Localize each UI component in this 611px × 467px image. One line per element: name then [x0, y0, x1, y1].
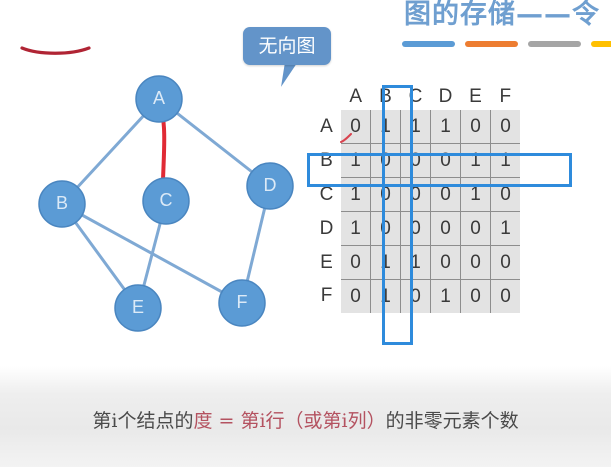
- matrix-cell-f-f: 0: [491, 280, 521, 314]
- matrix-cell-f-e: 0: [461, 280, 491, 314]
- matrix-cell-c-a: 1: [341, 178, 371, 212]
- matrix-cell-d-d: 0: [431, 212, 461, 246]
- matrix-cell-f-d: 1: [431, 280, 461, 314]
- matrix-cell-b-d: 0: [431, 144, 461, 178]
- matrix-cell-a-f: 0: [491, 110, 521, 144]
- slide-title: 图的存储——令: [404, 0, 611, 32]
- caption-part-1: 第i个结点的: [92, 410, 193, 432]
- matrix-cell-e-f: 0: [491, 246, 521, 280]
- matrix-cell-e-d: 0: [431, 246, 461, 280]
- matrix-cell-e-a: 0: [341, 246, 371, 280]
- graph-node-b[interactable]: [39, 181, 85, 227]
- matrix-cell-a-c: 1: [401, 110, 431, 144]
- matrix-col-header-c: C: [401, 84, 431, 110]
- matrix-row-header-b: B: [312, 144, 341, 178]
- slide-screenshot: 图的存储——令 A B: [0, 0, 611, 467]
- graph-node-e[interactable]: [115, 285, 161, 331]
- matrix-cell-b-f: 1: [491, 144, 521, 178]
- matrix-cell-d-b: 0: [371, 212, 401, 246]
- table-row: D100001: [312, 212, 520, 246]
- caption-part-2-highlight: 度 = 第i行（或第i列）: [193, 410, 385, 432]
- matrix-cell-c-e: 1: [461, 178, 491, 212]
- matrix-cell-b-a: 1: [341, 144, 371, 178]
- graph-node-a[interactable]: [136, 76, 182, 122]
- matrix-cell-d-e: 0: [461, 212, 491, 246]
- matrix-cell-f-b: 1: [371, 280, 401, 314]
- bar-blue: [402, 41, 455, 47]
- matrix-cell-f-c: 0: [401, 280, 431, 314]
- matrix-cell-b-b: 0: [371, 144, 401, 178]
- matrix-col-header-b: B: [371, 84, 401, 110]
- graph-node-c[interactable]: [143, 178, 189, 224]
- matrix-cell-b-c: 0: [401, 144, 431, 178]
- adjacency-matrix-table: ABCDEFA011100B100011C100010D100001E01100…: [312, 84, 520, 313]
- matrix-col-header-e: E: [461, 84, 491, 110]
- matrix-cell-f-a: 0: [341, 280, 371, 314]
- matrix-cell-a-e: 0: [461, 110, 491, 144]
- matrix-cell-e-b: 1: [371, 246, 401, 280]
- caption-part-3: 的非零元素个数: [386, 410, 519, 432]
- matrix-cell-a-d: 1: [431, 110, 461, 144]
- matrix-cell-d-a: 1: [341, 212, 371, 246]
- matrix-body: ABCDEFA011100B100011C100010D100001E01100…: [312, 84, 520, 313]
- matrix-col-header-f: F: [491, 84, 521, 110]
- table-row: E011000: [312, 246, 520, 280]
- matrix-cell-e-e: 0: [461, 246, 491, 280]
- matrix-row-header-a: A: [312, 110, 341, 144]
- matrix-cell-d-f: 1: [491, 212, 521, 246]
- matrix-cell-b-e: 1: [461, 144, 491, 178]
- matrix-cell-c-c: 0: [401, 178, 431, 212]
- matrix-corner-cell: [312, 84, 341, 110]
- table-row: B100011: [312, 144, 520, 178]
- graph-node-f[interactable]: [219, 280, 265, 326]
- matrix-cell-a-b: 1: [371, 110, 401, 144]
- red-pen-tick-icon: [340, 133, 354, 145]
- matrix-col-header-a: A: [341, 84, 371, 110]
- table-row: F010100: [312, 280, 520, 314]
- callout-label: 无向图: [243, 27, 331, 65]
- caption-text: 第i个结点的度 = 第i行（或第i列）的非零元素个数: [0, 406, 611, 433]
- graph-node-d[interactable]: [247, 163, 293, 209]
- bar-yellow: [591, 41, 611, 47]
- matrix-row-header-d: D: [312, 212, 341, 246]
- matrix-cell-c-b: 0: [371, 178, 401, 212]
- matrix-row-header-c: C: [312, 178, 341, 212]
- bar-gray: [528, 41, 581, 47]
- matrix-row-header-f: F: [312, 280, 341, 314]
- callout-red-underline: [21, 47, 91, 56]
- bar-orange: [465, 41, 518, 47]
- matrix-cell-e-c: 1: [401, 246, 431, 280]
- slide-content-area: 图的存储——令 A B: [0, 0, 611, 366]
- matrix-cell-c-d: 0: [431, 178, 461, 212]
- title-color-bars: [402, 41, 611, 47]
- matrix-row-header-e: E: [312, 246, 341, 280]
- matrix-col-header-d: D: [431, 84, 461, 110]
- matrix-header-row: ABCDEF: [312, 84, 520, 110]
- matrix-cell-d-c: 0: [401, 212, 431, 246]
- matrix-cell-c-f: 0: [491, 178, 521, 212]
- table-row: C100010: [312, 178, 520, 212]
- callout-undirected-graph[interactable]: 无向图: [243, 27, 331, 65]
